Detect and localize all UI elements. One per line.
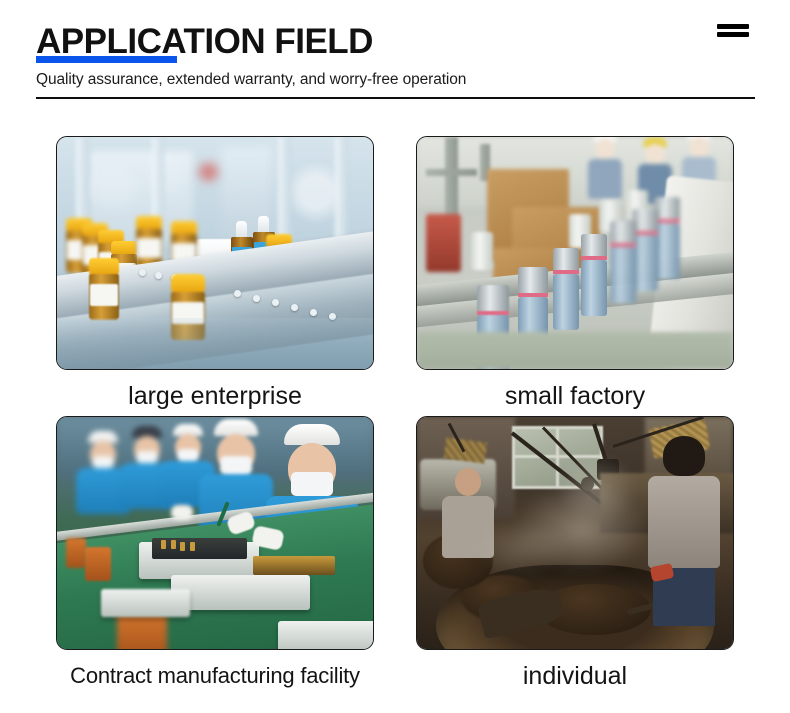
grid-cell: individual <box>416 416 736 691</box>
grid-cell: small factory <box>416 136 736 411</box>
application-field-grid: large enterprise <box>0 116 790 706</box>
card-caption: individual <box>416 661 734 691</box>
grid-cell: large enterprise <box>56 136 376 411</box>
page-header: APPLICATION FIELD Quality assurance, ext… <box>0 0 790 110</box>
application-card[interactable] <box>416 136 734 370</box>
card-caption: small factory <box>416 381 734 411</box>
page-subtitle: Quality assurance, extended warranty, an… <box>36 70 466 90</box>
title-accent-underline <box>36 56 177 63</box>
card-caption: large enterprise <box>56 381 374 411</box>
application-card[interactable] <box>56 416 374 650</box>
card-image-electronics-assembly <box>57 417 373 649</box>
header-divider <box>36 97 755 99</box>
application-field-page: APPLICATION FIELD Quality assurance, ext… <box>0 0 790 713</box>
card-image-individual-workshop <box>417 417 733 649</box>
menu-bar-bottom <box>717 32 749 37</box>
hamburger-menu-icon[interactable] <box>717 24 749 40</box>
grid-cell: Contract manufacturing facility <box>56 416 376 691</box>
application-card[interactable] <box>56 136 374 370</box>
card-image-small-factory <box>417 137 733 369</box>
menu-bar-top <box>717 24 749 29</box>
card-caption: Contract manufacturing facility <box>56 661 374 691</box>
application-card[interactable] <box>416 416 734 650</box>
card-image-pharma-line <box>57 137 373 369</box>
